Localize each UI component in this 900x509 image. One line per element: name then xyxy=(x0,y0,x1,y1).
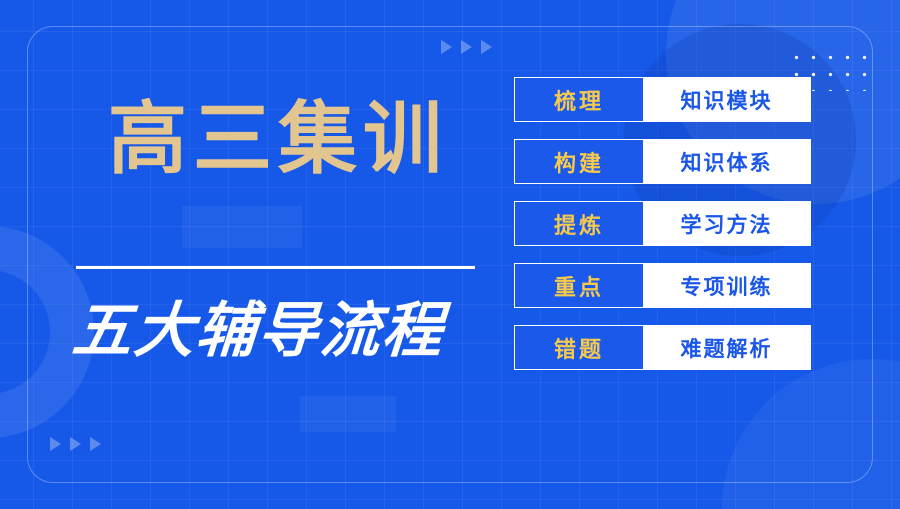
flow-row: 构建 知识体系 xyxy=(514,139,811,184)
flow-row-value: 专项训练 xyxy=(643,264,810,307)
flow-row: 重点 专项训练 xyxy=(514,263,811,308)
flow-row-value: 学习方法 xyxy=(643,202,810,245)
flow-row: 梳理 知识模块 xyxy=(514,77,811,122)
poster-canvas: 高三集训 五大辅导流程 梳理 知识模块 构建 知识体系 提炼 学习方法 重点 专… xyxy=(0,0,900,509)
flow-row-key: 提炼 xyxy=(515,202,643,245)
page-subtitle: 五大辅导流程 xyxy=(70,301,446,361)
flow-row-key: 梳理 xyxy=(515,78,643,121)
flow-row: 提炼 学习方法 xyxy=(514,201,811,246)
flow-row-key: 重点 xyxy=(515,264,643,307)
flow-row-value: 知识体系 xyxy=(643,140,810,183)
flow-row-key: 错题 xyxy=(515,326,643,369)
flow-row: 错题 难题解析 xyxy=(514,325,811,370)
flow-row-value: 难题解析 xyxy=(643,326,810,369)
flow-row-value: 知识模块 xyxy=(643,78,810,121)
headline-block: 高三集训 五大辅导流程 xyxy=(0,0,500,509)
circle-blob-bottom-right-icon xyxy=(722,359,900,509)
title-divider xyxy=(76,266,475,269)
flow-row-key: 构建 xyxy=(515,140,643,183)
flow-list: 梳理 知识模块 构建 知识体系 提炼 学习方法 重点 专项训练 错题 难题解析 xyxy=(514,77,811,370)
page-title: 高三集训 xyxy=(108,99,448,178)
